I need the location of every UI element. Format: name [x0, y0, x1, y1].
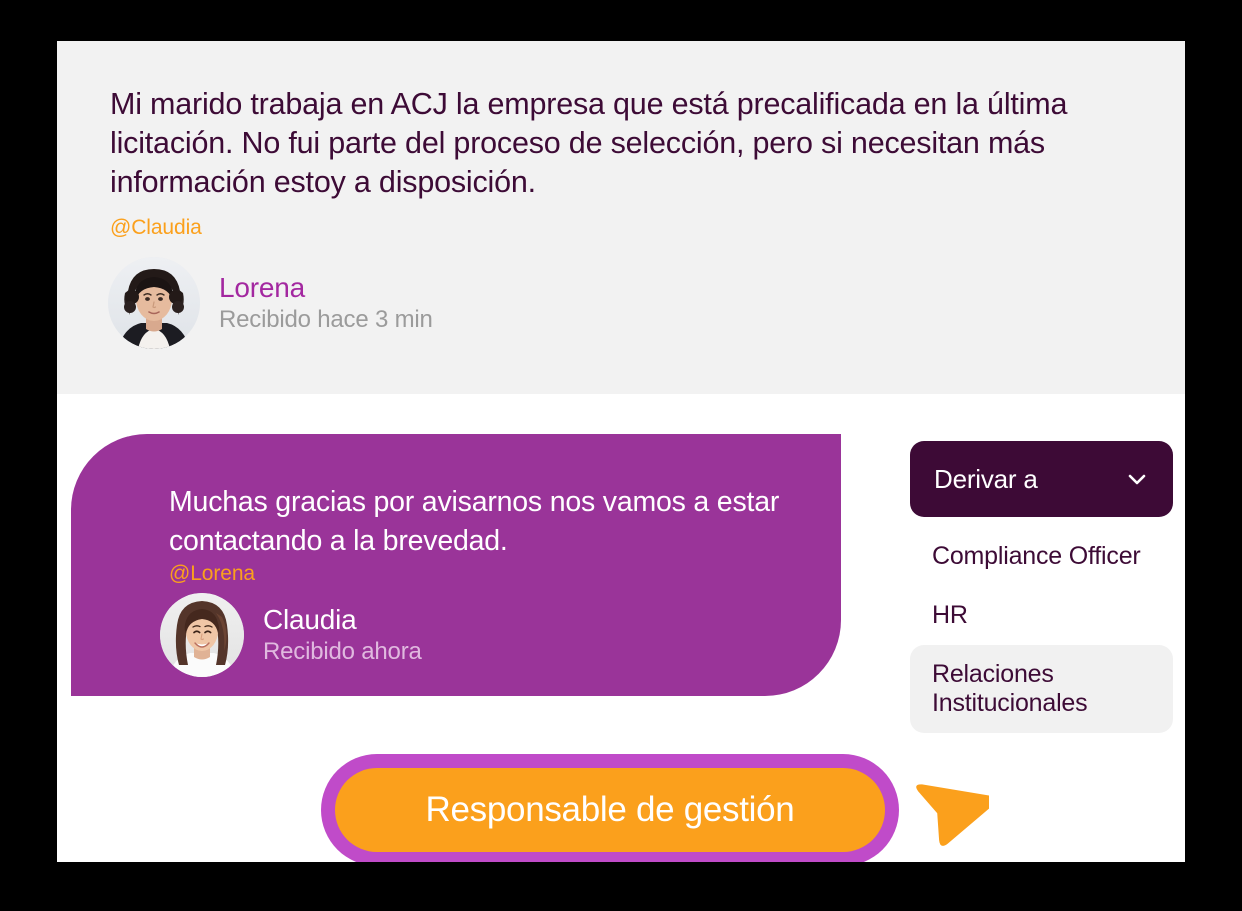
derivar-a-toggle-button[interactable]: Derivar a: [910, 441, 1173, 517]
outgoing-sender-row: Claudia Recibido ahora: [160, 593, 422, 677]
incoming-message-body: Mi marido trabaja en ACJ la empresa que …: [110, 85, 1112, 202]
conversation-card: Mi marido trabaja en ACJ la empresa que …: [57, 41, 1185, 862]
incoming-sender-name: Lorena: [219, 271, 433, 304]
outgoing-message-body: Muchas gracias por avisarnos nos vamos a…: [169, 483, 869, 561]
outgoing-message-status: Recibido ahora: [263, 637, 422, 667]
lorena-avatar: [108, 257, 200, 349]
derivar-a-options-list: Compliance Officer HR Relaciones Institu…: [910, 527, 1173, 733]
chevron-down-icon: [1125, 467, 1149, 491]
dropdown-option-relaciones-institucionales[interactable]: Relaciones Institucionales: [910, 645, 1173, 733]
cursor-arrow-icon: [903, 764, 989, 848]
incoming-message-status: Recibido hace 3 min: [219, 305, 433, 335]
responsable-de-gestion-button[interactable]: Responsable de gestión: [335, 768, 885, 852]
dropdown-option-hr[interactable]: HR: [910, 586, 1173, 645]
incoming-sender-meta: Lorena Recibido hace 3 min: [219, 271, 433, 335]
responsable-de-gestion-cta-wrapper: Responsable de gestión: [321, 754, 899, 862]
outgoing-message-bubble: Muchas gracias por avisarnos nos vamos a…: [71, 434, 841, 696]
incoming-sender-row: Lorena Recibido hace 3 min: [108, 257, 433, 349]
outgoing-message-mention: @Lorena: [169, 561, 255, 587]
derivar-a-dropdown: Derivar a Compliance Officer HR Relacion…: [910, 441, 1173, 733]
outgoing-sender-meta: Claudia Recibido ahora: [263, 603, 422, 667]
incoming-message-panel: Mi marido trabaja en ACJ la empresa que …: [57, 41, 1185, 394]
claudia-avatar: [160, 593, 244, 677]
outgoing-sender-name: Claudia: [263, 603, 422, 636]
derivar-a-toggle-label: Derivar a: [934, 464, 1125, 495]
dropdown-option-compliance-officer[interactable]: Compliance Officer: [910, 527, 1173, 586]
incoming-message-mention: @Claudia: [110, 215, 202, 241]
screenshot-stage: Mi marido trabaja en ACJ la empresa que …: [0, 0, 1242, 911]
